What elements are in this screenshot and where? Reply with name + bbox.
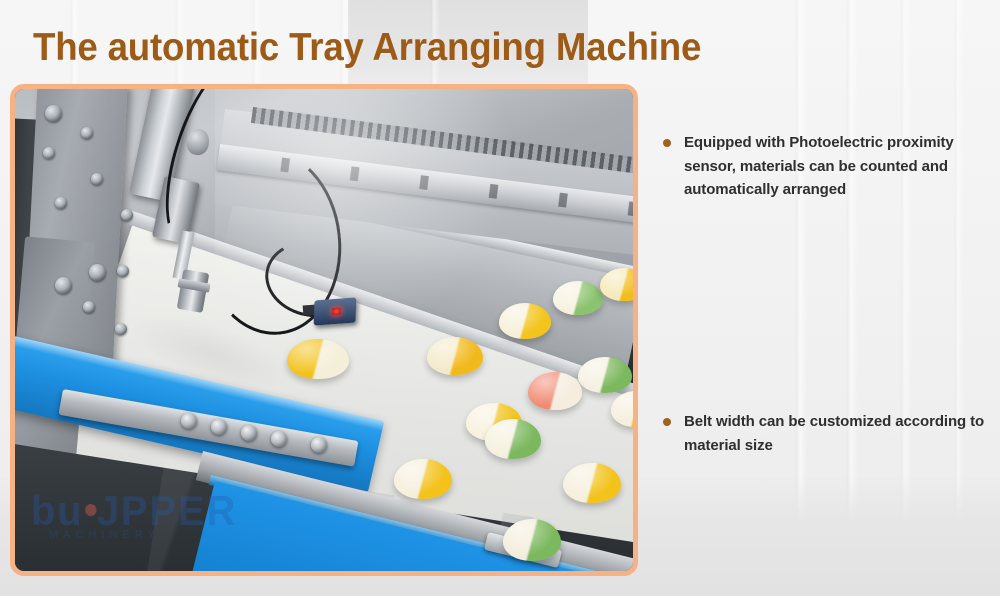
product-mochi [287,339,349,379]
sensor-led-icon [332,308,341,316]
photo-fitting [181,413,197,429]
product-mochi [485,419,541,459]
photo-fitting [211,419,227,435]
product-mochi [503,519,561,561]
bullet-dot-icon [663,139,671,147]
product-highlight [485,419,541,459]
product-highlight [394,459,452,499]
bolt-icon [117,265,129,277]
bolt-icon [89,264,106,281]
machine-photo: buJPPER MACHINERY [15,89,633,571]
bolt-icon [91,173,103,185]
product-mochi [528,372,582,410]
photo-fitting [241,425,257,441]
product-mochi [427,337,483,375]
product-highlight [528,372,582,410]
bolt-icon [45,105,62,122]
slide-root: The automatic Tray Arranging Machine [0,0,1000,596]
bolt-icon [55,197,67,209]
product-highlight [427,337,483,375]
product-highlight [578,357,632,393]
product-highlight [503,519,561,561]
bolt-icon [115,323,127,335]
bolt-icon [121,209,133,221]
bolt-icon [43,147,55,159]
feature-item-1-text: Equipped with Photoelectric proximity se… [684,134,954,198]
product-mochi [394,459,452,499]
feature-list: Equipped with Photoelectric proximity se… [662,131,992,202]
photo-fitting [271,431,287,447]
feature-item-2-text: Belt width can be customized according t… [684,413,984,454]
bolt-icon [55,277,72,294]
product-highlight [287,339,349,379]
product-mochi [553,281,603,315]
page-title: The automatic Tray Arranging Machine [33,25,701,71]
feature-item-1: Equipped with Photoelectric proximity se… [662,131,992,202]
photoelectric-sensor [314,297,357,325]
product-mochi [499,303,551,339]
feature-item-2: Belt width can be customized according t… [662,410,1000,457]
product-highlight [563,463,621,503]
product-highlight [499,303,551,339]
product-highlight [553,281,603,315]
bullet-dot-icon [663,418,671,426]
product-mochi [578,357,632,393]
bolt-icon [81,127,93,139]
machine-photo-frame: buJPPER MACHINERY [10,84,638,576]
product-mochi [563,463,621,503]
photo-fitting [311,437,327,453]
bolt-icon [83,301,95,313]
